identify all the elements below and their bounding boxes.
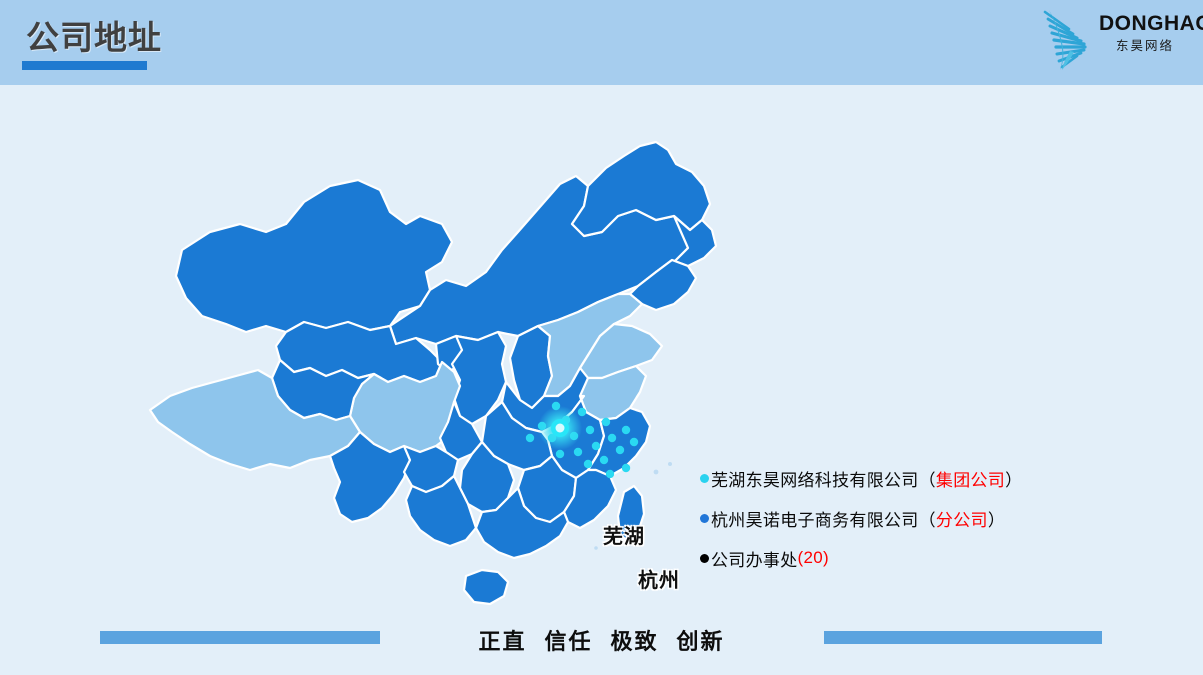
city-label-hangzhou: 杭州 xyxy=(638,564,680,593)
tagline-word-4: 创新 xyxy=(677,629,725,654)
island-hainan xyxy=(464,570,508,604)
tagline-word-3: 极致 xyxy=(611,629,659,654)
title-underline-accent xyxy=(22,61,147,70)
logo-name: DONGHAO xyxy=(1099,12,1191,36)
province-xinjiang xyxy=(176,180,452,332)
legend-bullet-blue xyxy=(700,514,709,523)
footer-bar-right xyxy=(824,631,1102,644)
legend-bullet-black xyxy=(700,554,709,563)
legend-tag-group-company: 集团公司 xyxy=(936,466,1005,491)
company-logo: DONGHAO 东昊网络 xyxy=(1033,4,1193,74)
legend-close-paren-1: ） xyxy=(988,506,1005,531)
tagline-word-2: 信任 xyxy=(544,629,592,654)
header-band xyxy=(0,0,1203,85)
legend-item-offices: 公司办事处(20) xyxy=(700,538,1120,578)
legend-item-group-company: 芜湖东昊网络科技有限公司（集团公司） xyxy=(700,458,1120,498)
legend-label-offices: 公司办事处 xyxy=(711,546,798,571)
logo-wordmark: DONGHAO 东昊网络 xyxy=(1099,12,1191,55)
legend-close-paren-0: ） xyxy=(1005,466,1022,491)
tagline-word-1: 正直 xyxy=(478,629,526,654)
legend-bullet-cyan xyxy=(700,474,709,483)
city-label-wuhu: 芜湖 xyxy=(603,520,645,549)
legend-label-group-company: 芜湖东昊网络科技有限公司（ xyxy=(711,466,936,491)
legend-label-branch-company: 杭州昊诺电子商务有限公司（ xyxy=(711,506,936,531)
logo-subtitle: 东昊网络 xyxy=(1099,37,1191,55)
china-map: 芜湖 杭州 xyxy=(90,120,730,620)
hq-marker-wuhu xyxy=(538,406,582,450)
legend-tag-branch-company: 分公司 xyxy=(936,506,988,531)
address-legend: 芜湖东昊网络科技有限公司（集团公司） 杭州昊诺电子商务有限公司（分公司） 公司办… xyxy=(700,458,1120,578)
legend-item-branch-company: 杭州昊诺电子商务有限公司（分公司） xyxy=(700,498,1120,538)
legend-count-offices: (20) xyxy=(798,548,829,568)
wing-feather-icon xyxy=(1039,6,1101,72)
footer-bar-left xyxy=(100,631,380,644)
page-title: 公司地址 xyxy=(26,18,162,58)
